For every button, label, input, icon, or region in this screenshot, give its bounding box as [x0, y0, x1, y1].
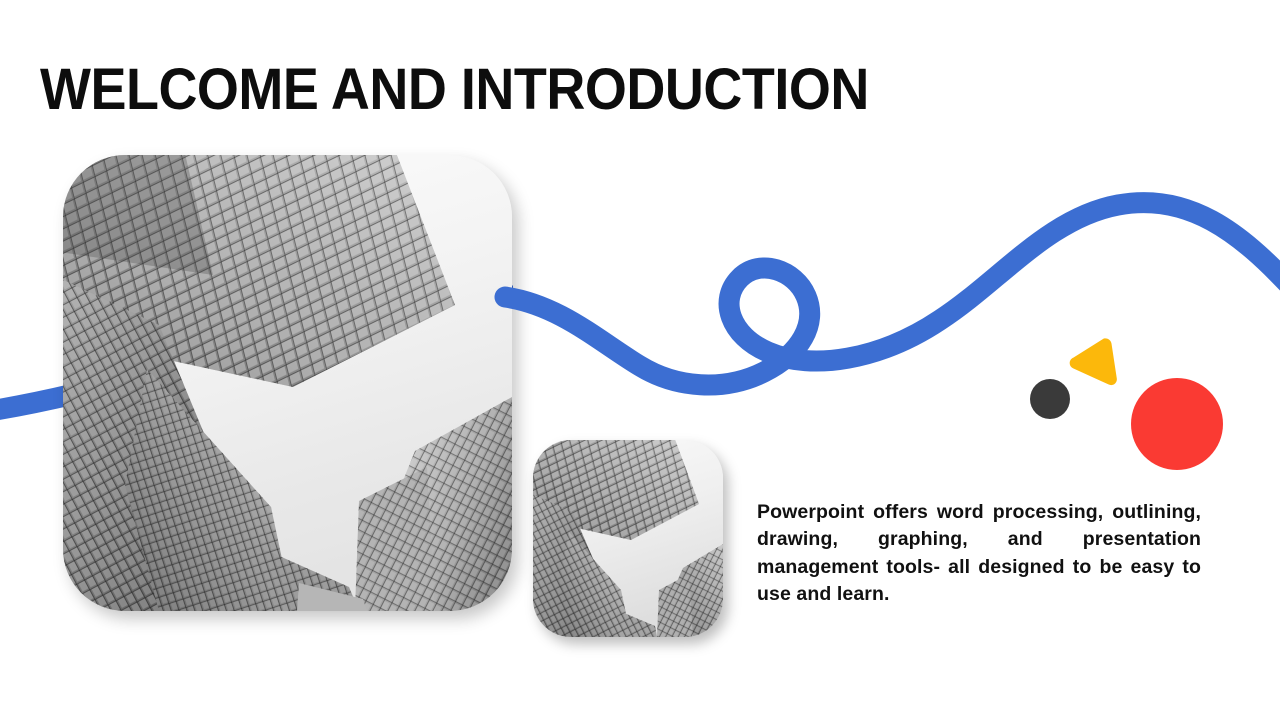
dark-circle-decoration: [1030, 379, 1070, 419]
yellow-triangle-decoration: [1067, 334, 1123, 390]
hero-image-large: [63, 155, 512, 611]
ribbon-main-curve: [505, 203, 1280, 385]
body-paragraph: Powerpoint offers word processing, outli…: [757, 499, 1201, 609]
hero-image-small: [533, 440, 723, 637]
presentation-slide: WELCOME AND INTRODUCTION Powerpoint offe…: [0, 0, 1280, 720]
page-title: WELCOME AND INTRODUCTION: [40, 57, 869, 123]
red-circle-decoration: [1131, 378, 1223, 470]
skyscraper-photo-small: [533, 440, 723, 637]
skyscraper-photo-large: [63, 155, 512, 611]
